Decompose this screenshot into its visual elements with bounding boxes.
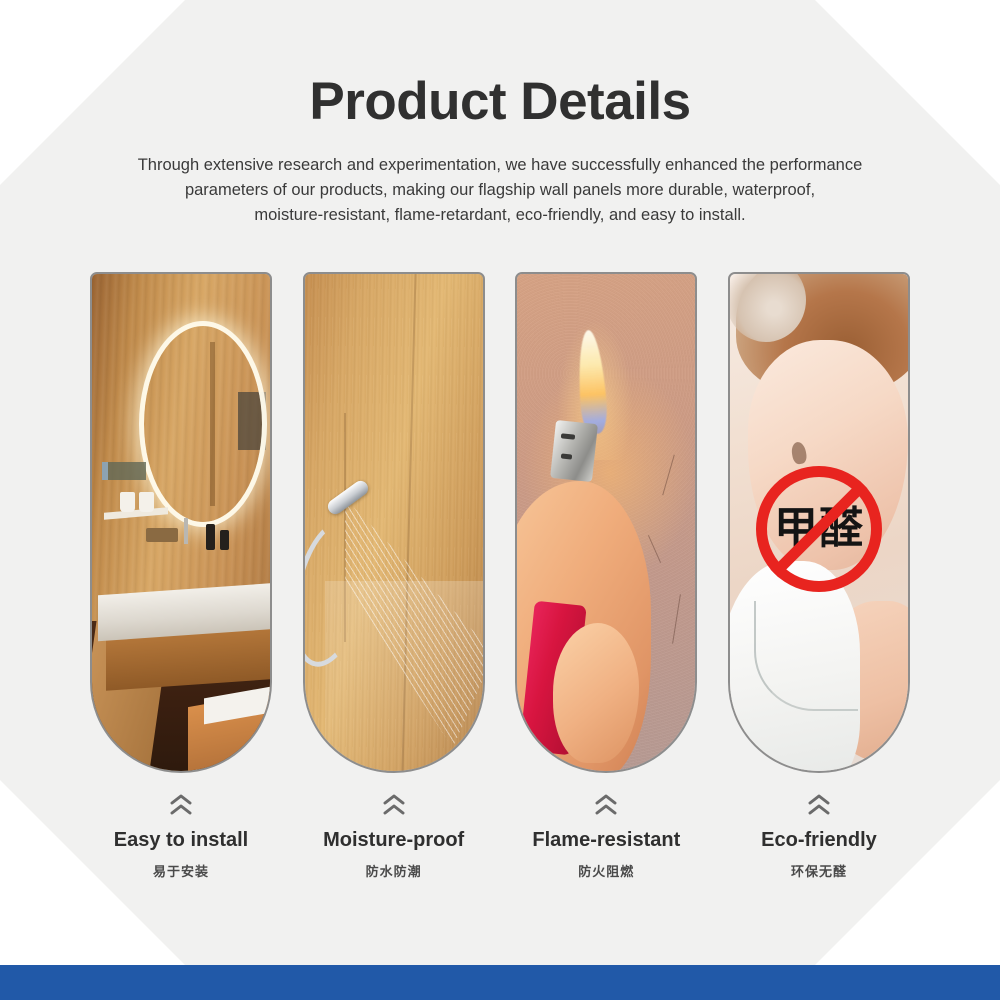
double-chevron-up-icon xyxy=(381,793,407,817)
feature-label-zh: 易于安装 xyxy=(153,861,209,880)
double-chevron-up-icon xyxy=(168,793,194,817)
photo-shower-spray xyxy=(303,272,485,773)
feature-label-en: Easy to install xyxy=(114,829,249,852)
page-description: Through extensive research and experimen… xyxy=(120,153,880,228)
photo-lighter-flame xyxy=(515,272,697,773)
page-title: Product Details xyxy=(0,72,1000,131)
description-line-3: moisture-resistant, flame-retardant, eco… xyxy=(120,203,880,228)
feature-card-easy-to-install[interactable]: Easy to install 易于安装 xyxy=(90,272,272,880)
feature-label-zh: 环保无醛 xyxy=(791,861,847,880)
feature-label-zh: 防水防潮 xyxy=(366,861,422,880)
no-formaldehyde-icon: 甲醛 xyxy=(756,466,882,592)
description-line-2: parameters of our products, making our f… xyxy=(120,178,880,203)
double-chevron-up-icon xyxy=(806,793,832,817)
feature-label-en: Eco-friendly xyxy=(761,829,877,852)
description-line-1: Through extensive research and experimen… xyxy=(120,153,880,178)
feature-label-en: Moisture-proof xyxy=(323,829,464,852)
header: Product Details Through extensive resear… xyxy=(0,72,1000,228)
feature-card-moisture-proof[interactable]: Moisture-proof 防水防潮 xyxy=(303,272,485,880)
feature-label-zh: 防火阻燃 xyxy=(578,861,634,880)
feature-label-en: Flame-resistant xyxy=(532,829,680,852)
photo-bathroom-vanity xyxy=(90,272,272,773)
product-details-page: Product Details Through extensive resear… xyxy=(0,0,1000,1000)
feature-card-flame-resistant[interactable]: Flame-resistant 防火阻燃 xyxy=(515,272,697,880)
feature-card-row: Easy to install 易于安装 xyxy=(90,272,910,880)
photo-baby-no-formaldehyde: 甲醛 xyxy=(728,272,910,773)
bottom-accent-bar xyxy=(0,965,1000,1000)
feature-card-eco-friendly[interactable]: 甲醛 Eco-friendly 环保无醛 xyxy=(728,272,910,880)
double-chevron-up-icon xyxy=(593,793,619,817)
